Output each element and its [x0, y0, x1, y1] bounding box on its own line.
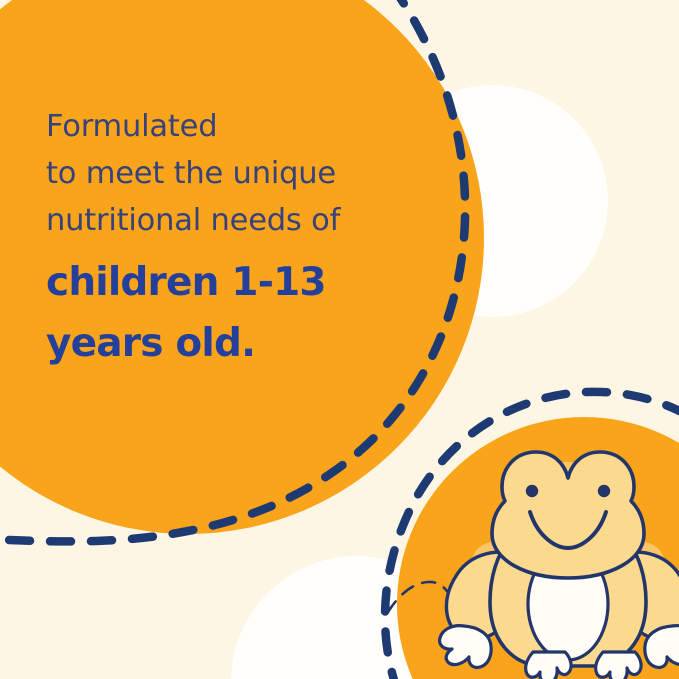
poster-canvas: Formulated to meet the unique nutritiona…	[0, 0, 679, 679]
frog-left-eye	[526, 485, 538, 497]
frog-left-foot	[440, 626, 492, 668]
frog-front-right-toes	[596, 652, 641, 679]
frog-front-left-toes	[526, 652, 571, 679]
frog-right-eye	[598, 485, 610, 497]
frog-illustration-layer	[0, 0, 679, 679]
smiling-frog	[440, 452, 679, 679]
